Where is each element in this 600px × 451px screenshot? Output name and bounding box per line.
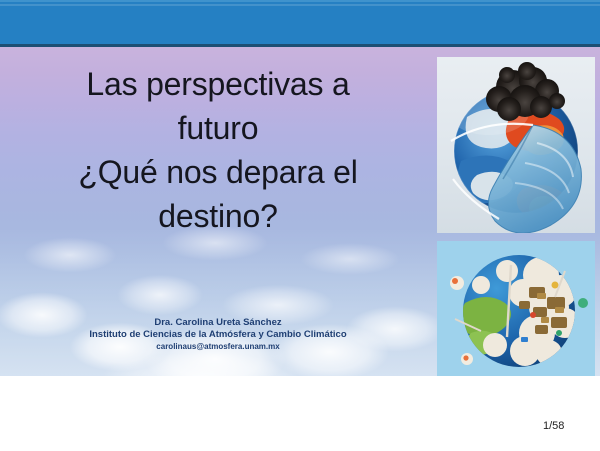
image-trash-earth xyxy=(437,241,595,376)
page-number: 1/58 xyxy=(543,420,564,432)
title-line-3: ¿Qué nos depara el xyxy=(16,150,420,194)
author-institution: Instituto de Ciencias de la Atmósfera y … xyxy=(14,329,422,341)
slide-footer xyxy=(0,376,600,451)
author-email: carolinaus@atmosfera.unam.mx xyxy=(14,341,422,353)
title-line-1: Las perspectivas a xyxy=(16,62,420,106)
trash-earth-illustration xyxy=(437,241,595,376)
masked-earth-illustration xyxy=(437,57,595,233)
author-credits: Dra. Carolina Ureta Sánchez Instituto de… xyxy=(14,317,422,353)
slide-title: Las perspectivas a futuro ¿Qué nos depar… xyxy=(16,62,420,238)
title-line-2: futuro xyxy=(16,106,420,150)
image-masked-earth xyxy=(437,57,595,233)
presentation-slide: Las perspectivas a futuro ¿Qué nos depar… xyxy=(0,0,600,451)
title-line-4: destino? xyxy=(16,194,420,238)
slide-top-banner xyxy=(0,0,600,47)
author-name: Dra. Carolina Ureta Sánchez xyxy=(14,317,422,329)
